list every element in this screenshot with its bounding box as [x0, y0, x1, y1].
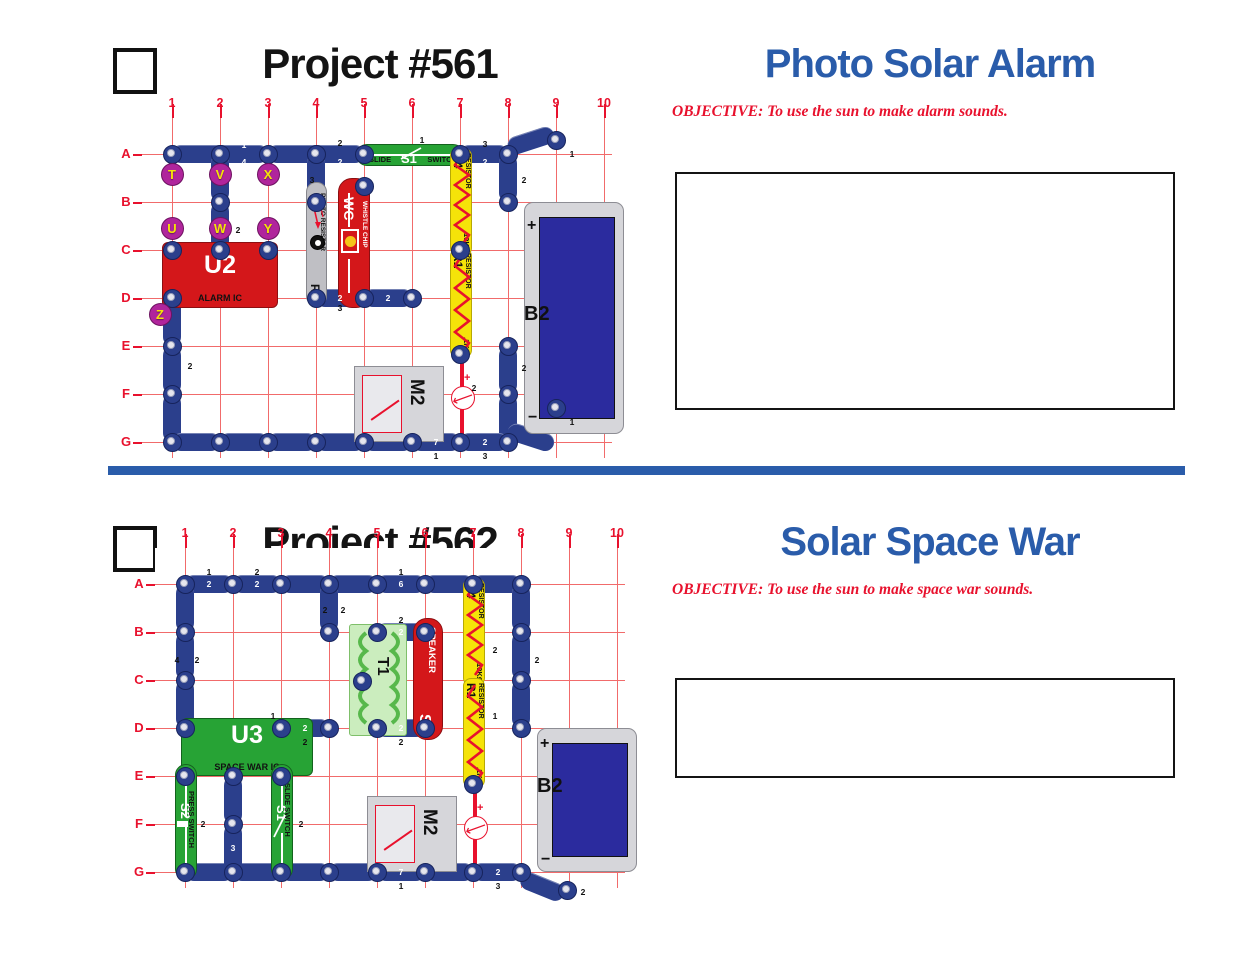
snap-connector[interactable]	[307, 145, 326, 164]
circuit-diagram-561: 1 2 3 4 5 6 7 8 9 10 A B C D E F G	[142, 118, 612, 458]
whistle-chip-disc-icon	[341, 229, 359, 253]
snap-connector[interactable]	[451, 345, 470, 364]
solar-cell-arrow-icon: ⟵	[464, 816, 488, 840]
grid-column-tick	[220, 104, 222, 118]
solar-cell-window	[362, 375, 402, 433]
snap-connector[interactable]	[272, 863, 291, 882]
wire-length-label: 2	[341, 605, 346, 615]
snap-connector[interactable]	[451, 241, 470, 260]
snap-connector[interactable]	[558, 881, 577, 900]
grid-column-tick	[460, 104, 462, 118]
wire-length-label: 2	[188, 361, 193, 371]
snap-connector[interactable]	[272, 719, 291, 738]
snap-connector[interactable]	[259, 145, 278, 164]
solar-cell-window	[375, 805, 415, 863]
marker-t[interactable]: T	[161, 163, 184, 186]
part-r4-resistor[interactable]: R4 RESISTOR 10KΩ	[450, 148, 472, 256]
snap-connector[interactable]	[224, 575, 243, 594]
snap-connector[interactable]	[355, 177, 374, 196]
battery-minus-sign: −	[528, 409, 537, 427]
snap-connector[interactable]	[416, 623, 435, 642]
part-sublabel-u3: SPACE WAR IC	[182, 762, 312, 772]
snap-connector[interactable]	[259, 241, 278, 260]
part-label-b2: B2	[524, 303, 550, 326]
project-561-section: Project #561 Photo Solar Alarm OBJECTIVE…	[0, 0, 1235, 470]
snap-connector[interactable]	[547, 131, 566, 150]
grid-row-label: A	[131, 576, 147, 591]
snap-connector[interactable]	[176, 623, 195, 642]
grid-row-tick	[146, 632, 155, 634]
grid-row-tick	[133, 442, 142, 444]
part-m2-solar-cell[interactable]: M2	[367, 796, 457, 872]
objective-text: OBJECTIVE: To use the sun to make space …	[672, 581, 1232, 599]
grid-column-tick	[233, 534, 235, 548]
grid-column-tick	[604, 104, 606, 118]
snap-connector[interactable]	[353, 672, 372, 691]
snap-connector[interactable]	[355, 433, 374, 452]
grid-column-tick	[377, 534, 379, 548]
grid-column-tick	[425, 534, 427, 548]
wire-length-label: 3	[483, 451, 488, 461]
switch-lever-icon	[273, 813, 287, 841]
grid-row-tick	[146, 824, 155, 826]
snap-connector[interactable]	[211, 145, 230, 164]
snap-connector[interactable]	[512, 575, 531, 594]
marker-u[interactable]: U	[161, 217, 184, 240]
snap-connector[interactable]	[163, 145, 182, 164]
snap-connector[interactable]	[499, 385, 518, 404]
snap-connector[interactable]	[163, 433, 182, 452]
grid-row-tick	[133, 394, 142, 396]
wire-length-label: 2	[522, 175, 527, 185]
wire-length-label: 2	[535, 655, 540, 665]
grid-row-label: D	[131, 720, 147, 735]
section-divider	[108, 466, 1185, 475]
solar-cell-plus-sign: +	[477, 802, 483, 814]
grid-column-tick	[569, 534, 571, 548]
circuit-diagram-562: 1 2 3 4 5 6 7 8 9 10 A B C D E F G	[155, 548, 625, 888]
snap-connector[interactable]	[416, 719, 435, 738]
solar-cell-plus-sign: +	[464, 372, 470, 384]
project-title: Solar Space War	[650, 520, 1210, 565]
answer-box[interactable]	[675, 172, 1175, 410]
snap-connector[interactable]	[499, 433, 518, 452]
marker-v[interactable]: V	[209, 163, 232, 186]
battery-plus-sign: +	[540, 735, 549, 753]
grid-row-label: D	[118, 290, 134, 305]
snap-connector[interactable]	[368, 623, 387, 642]
wire-length-label: 1	[493, 711, 498, 721]
snap-connector[interactable]	[320, 575, 339, 594]
snap-connector[interactable]	[307, 193, 326, 212]
snap-connector[interactable]	[355, 289, 374, 308]
marker-y[interactable]: Y	[257, 217, 280, 240]
grid-column-tick	[364, 104, 366, 118]
wire-length-label: 1	[434, 451, 439, 461]
answer-box[interactable]	[675, 678, 1175, 778]
snap-connector[interactable]	[320, 863, 339, 882]
grid-row-label: B	[131, 624, 147, 639]
part-sublabel-s2: PRESS SWITCH	[187, 791, 196, 848]
grid-column-tick	[316, 104, 318, 118]
objective-text: OBJECTIVE: To use the sun to make alarm …	[672, 103, 1232, 121]
snap-connector[interactable]	[272, 767, 291, 786]
part-label-s1: S1	[401, 151, 417, 166]
grid-column-tick	[329, 534, 331, 548]
part-label-m2: M2	[418, 809, 440, 835]
grid-row-label: C	[131, 672, 147, 687]
part-r1-resistor[interactable]: R1 RESISTOR .1KΩ	[463, 678, 485, 788]
snap-connector[interactable]	[368, 863, 387, 882]
grid-row-label: G	[131, 864, 147, 879]
part-r1-resistor[interactable]: R1 RESISTOR .1KΩ	[450, 248, 472, 358]
battery-cell-face	[552, 743, 628, 857]
part-b2-battery[interactable]: B2 + −	[524, 202, 624, 434]
snap-connector[interactable]	[512, 671, 531, 690]
part-r4-resistor[interactable]: R4 RESISTOR 10KΩ	[463, 578, 485, 686]
grid-column-tick	[412, 104, 414, 118]
marker-z[interactable]: Z	[149, 303, 172, 326]
grid-row-tick	[133, 298, 142, 300]
part-m2-solar-cell[interactable]: M2	[354, 366, 444, 442]
grid-row-tick	[133, 250, 142, 252]
snap-connector[interactable]	[464, 863, 483, 882]
snap-connector[interactable]	[163, 385, 182, 404]
grid-row-label: G	[118, 434, 134, 449]
grid-row-tick	[133, 154, 142, 156]
press-button-icon	[177, 821, 188, 827]
project-562-section: Project #562 Solar Space War OBJECTIVE: …	[0, 478, 1235, 954]
battery-plus-sign: +	[527, 217, 536, 235]
part-sublabel-wc: WHISTLE CHIP	[361, 201, 368, 248]
grid-column-tick	[556, 104, 558, 118]
snap-connector[interactable]	[163, 241, 182, 260]
snap-connector[interactable]	[307, 433, 326, 452]
photoresistor-sensor-icon	[310, 235, 325, 250]
grid-row-tick	[146, 584, 155, 586]
snap-connector[interactable]	[499, 145, 518, 164]
snap-connector[interactable]	[499, 337, 518, 356]
snap-connector[interactable]	[512, 863, 531, 882]
snap-connector[interactable]	[259, 433, 278, 452]
project-checkbox[interactable]	[113, 526, 157, 572]
grid-row-label: B	[118, 194, 134, 209]
snap-connector[interactable]	[355, 145, 374, 164]
snap-connector[interactable]	[224, 767, 243, 786]
part-u3-space-war-ic[interactable]: U3 SPACE WAR IC	[181, 718, 313, 776]
marker-x[interactable]: X	[257, 163, 280, 186]
resistor-zigzag-icon	[451, 253, 473, 357]
grid-row-tick	[146, 728, 155, 730]
snap-connector[interactable]	[224, 815, 243, 834]
snap-connector[interactable]	[176, 767, 195, 786]
grid-row-label: E	[118, 338, 134, 353]
grid-column-tick	[473, 534, 475, 548]
grid-column-tick	[172, 104, 174, 118]
snap-connector[interactable]	[211, 193, 230, 212]
snap-connector[interactable]	[320, 719, 339, 738]
grid-column-tick	[281, 534, 283, 548]
snap-connector[interactable]	[499, 193, 518, 212]
wire-length-label: 2	[236, 225, 241, 235]
grid-row-label: C	[118, 242, 134, 257]
grid-row-tick	[146, 680, 155, 682]
snap-connector[interactable]	[176, 719, 195, 738]
grid-row-tick	[146, 776, 155, 778]
grid-row-label: A	[118, 146, 134, 161]
battery-minus-sign: −	[541, 851, 550, 869]
snap-connector[interactable]	[307, 289, 326, 308]
wire-length-label: 2	[195, 655, 200, 665]
snap-connector[interactable]	[403, 289, 422, 308]
snap-connector[interactable]	[368, 719, 387, 738]
snap-connector[interactable]	[176, 863, 195, 882]
snap-connector[interactable]	[464, 775, 483, 794]
resistor-zigzag-icon	[464, 683, 486, 787]
grid-row-tick	[133, 202, 142, 204]
project-title: Photo Solar Alarm	[650, 42, 1210, 87]
resistor-zigzag-icon	[464, 583, 486, 683]
part-label-b2: B2	[537, 775, 563, 798]
snap-connector[interactable]	[211, 241, 230, 260]
battery-cell-face	[539, 217, 615, 419]
grid-row-label: F	[131, 816, 147, 831]
marker-w[interactable]: W	[209, 217, 232, 240]
grid-column-tick	[268, 104, 270, 118]
snap-connector[interactable]	[464, 575, 483, 594]
snap-connector[interactable]	[224, 863, 243, 882]
snap-connector[interactable]	[512, 719, 531, 738]
snap-connector[interactable]	[451, 145, 470, 164]
snap-connector[interactable]	[320, 623, 339, 642]
grid-column-tick	[617, 534, 619, 548]
grid-column-tick	[521, 534, 523, 548]
grid-row-tick	[133, 346, 142, 348]
project-number: Project #561	[180, 40, 580, 88]
grid-column-tick	[185, 534, 187, 548]
grid-row-label: E	[131, 768, 147, 783]
part-b2-battery[interactable]: B2 + −	[537, 728, 637, 872]
snap-connector[interactable]	[368, 575, 387, 594]
part-label-u3: U3	[182, 721, 312, 750]
snap-connector[interactable]	[547, 399, 566, 418]
snap-connector[interactable]	[163, 337, 182, 356]
project-header: Project #561 Photo Solar Alarm	[0, 0, 1235, 100]
snap-connector[interactable]	[403, 433, 422, 452]
snap-connector[interactable]	[176, 671, 195, 690]
snap-connector[interactable]	[211, 433, 230, 452]
grid-row-label: F	[118, 386, 134, 401]
snap-connector[interactable]	[176, 575, 195, 594]
wire-length-label: 3	[496, 881, 501, 891]
snap-connector[interactable]	[272, 575, 291, 594]
grid-column-tick	[508, 104, 510, 118]
solar-cell-arrow-icon: ⟵	[451, 386, 475, 410]
part-label-m2: M2	[405, 379, 427, 405]
wire-length-label: 2	[581, 887, 586, 897]
grid-row-tick	[146, 872, 155, 874]
wire-length-label: 1	[399, 881, 404, 891]
project-checkbox[interactable]	[113, 48, 157, 94]
snap-connector[interactable]	[451, 433, 470, 452]
wire-length-label: 2	[493, 645, 498, 655]
resistor-zigzag-icon	[451, 153, 473, 253]
snap-connector[interactable]	[416, 575, 435, 594]
snap-connector[interactable]	[512, 623, 531, 642]
snap-connector[interactable]	[416, 863, 435, 882]
wire-length-label: 2	[399, 737, 404, 747]
wire-length-label: 2	[328, 175, 333, 185]
